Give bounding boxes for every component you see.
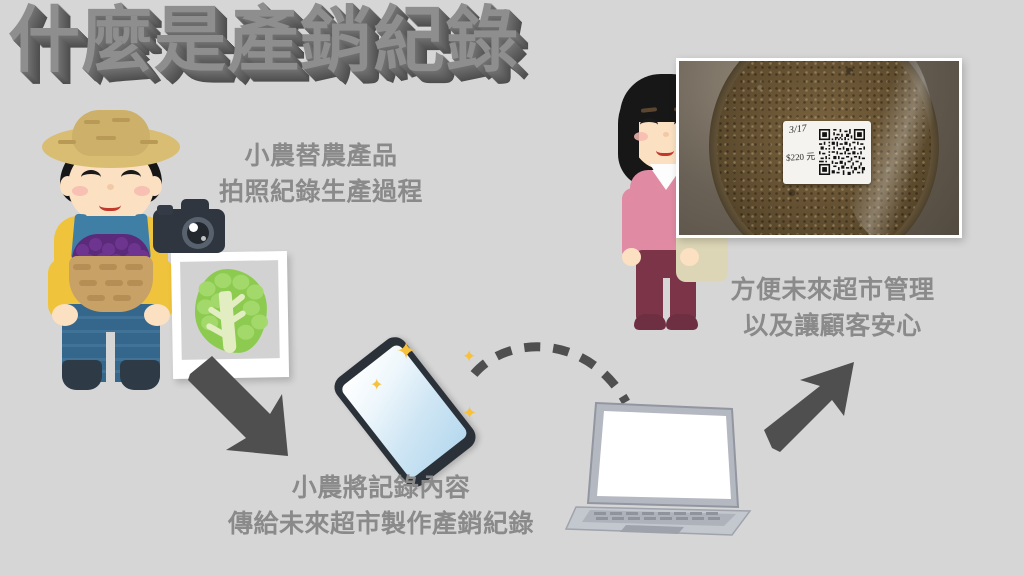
hat-weave-2: [112, 118, 130, 122]
product-photo-with-qr: 3/17 $220 元: [676, 58, 962, 238]
farmer-boot-left: [62, 360, 102, 390]
caption-upload-line2: 傳給未來超市製作產銷紀錄: [196, 506, 566, 542]
farmer-straw-hat-crown: [72, 110, 150, 156]
qr-code: [819, 129, 865, 175]
shopper-cheek-left: [634, 132, 648, 141]
vegetable-photo-image: [180, 260, 280, 360]
shopper-hand-left: [622, 248, 641, 266]
caption-upload: 小農將記錄內容 傳給未來超市製作產銷紀錄: [196, 470, 566, 543]
caption-shop: 方便未來超市管理 以及讓顧客安心: [700, 272, 965, 345]
label-price: $220 元: [786, 149, 816, 164]
harvest-basket: [69, 256, 153, 312]
hat-weave-4: [140, 140, 158, 144]
product-label: 3/17 $220 元: [783, 121, 871, 184]
farmer-eye-left: [81, 170, 101, 185]
farmer-leg-gap: [106, 332, 115, 384]
caption-farmer-line1: 小農替農產品: [196, 138, 446, 174]
farmer-cheek-left: [72, 186, 88, 196]
arrow-down-right: [178, 352, 298, 467]
arrow-up-right: [758, 352, 868, 454]
farmer-hand-right: [144, 304, 170, 326]
farmer-mouth: [99, 196, 121, 211]
page-title: 什麼是產銷紀錄: [8, 4, 519, 80]
caption-shop-line1: 方便未來超市管理: [700, 272, 965, 308]
sparkle-icon-1: ✦: [396, 340, 416, 364]
hat-weave-1: [84, 120, 100, 124]
farmer-eye-right: [121, 170, 141, 185]
hat-weave-3: [58, 140, 76, 144]
caption-farmer: 小農替農產品 拍照紀錄生產過程: [196, 138, 446, 211]
farmer-boot-right: [120, 360, 160, 390]
camera-icon: [153, 198, 225, 256]
product-photo-image: 3/17 $220 元: [679, 61, 959, 235]
shopper-nose: [663, 132, 669, 137]
caption-farmer-line2: 拍照紀錄生產過程: [196, 174, 446, 210]
slide-canvas: 什麼是產銷紀錄: [0, 0, 1024, 576]
laptop-illustration: [560, 395, 764, 545]
shopper-shoe-left: [634, 314, 666, 330]
shopper-shoe-right: [666, 314, 698, 330]
shopper-eye-left: [640, 118, 658, 132]
farmer-nose: [107, 184, 114, 190]
caption-shop-line2: 以及讓顧客安心: [700, 308, 965, 344]
shopper-hand-right: [680, 248, 699, 266]
label-date: 3/17: [788, 123, 807, 136]
sparkle-icon-3: ✦: [370, 378, 383, 394]
shopper-mouth: [656, 142, 674, 156]
lettuce-leaf-icon: [190, 264, 270, 355]
farmer-cheek-right: [134, 186, 150, 196]
caption-upload-line1: 小農將記錄內容: [196, 470, 566, 506]
hat-weave-5: [96, 136, 116, 140]
farmer-hand-left: [52, 304, 78, 326]
